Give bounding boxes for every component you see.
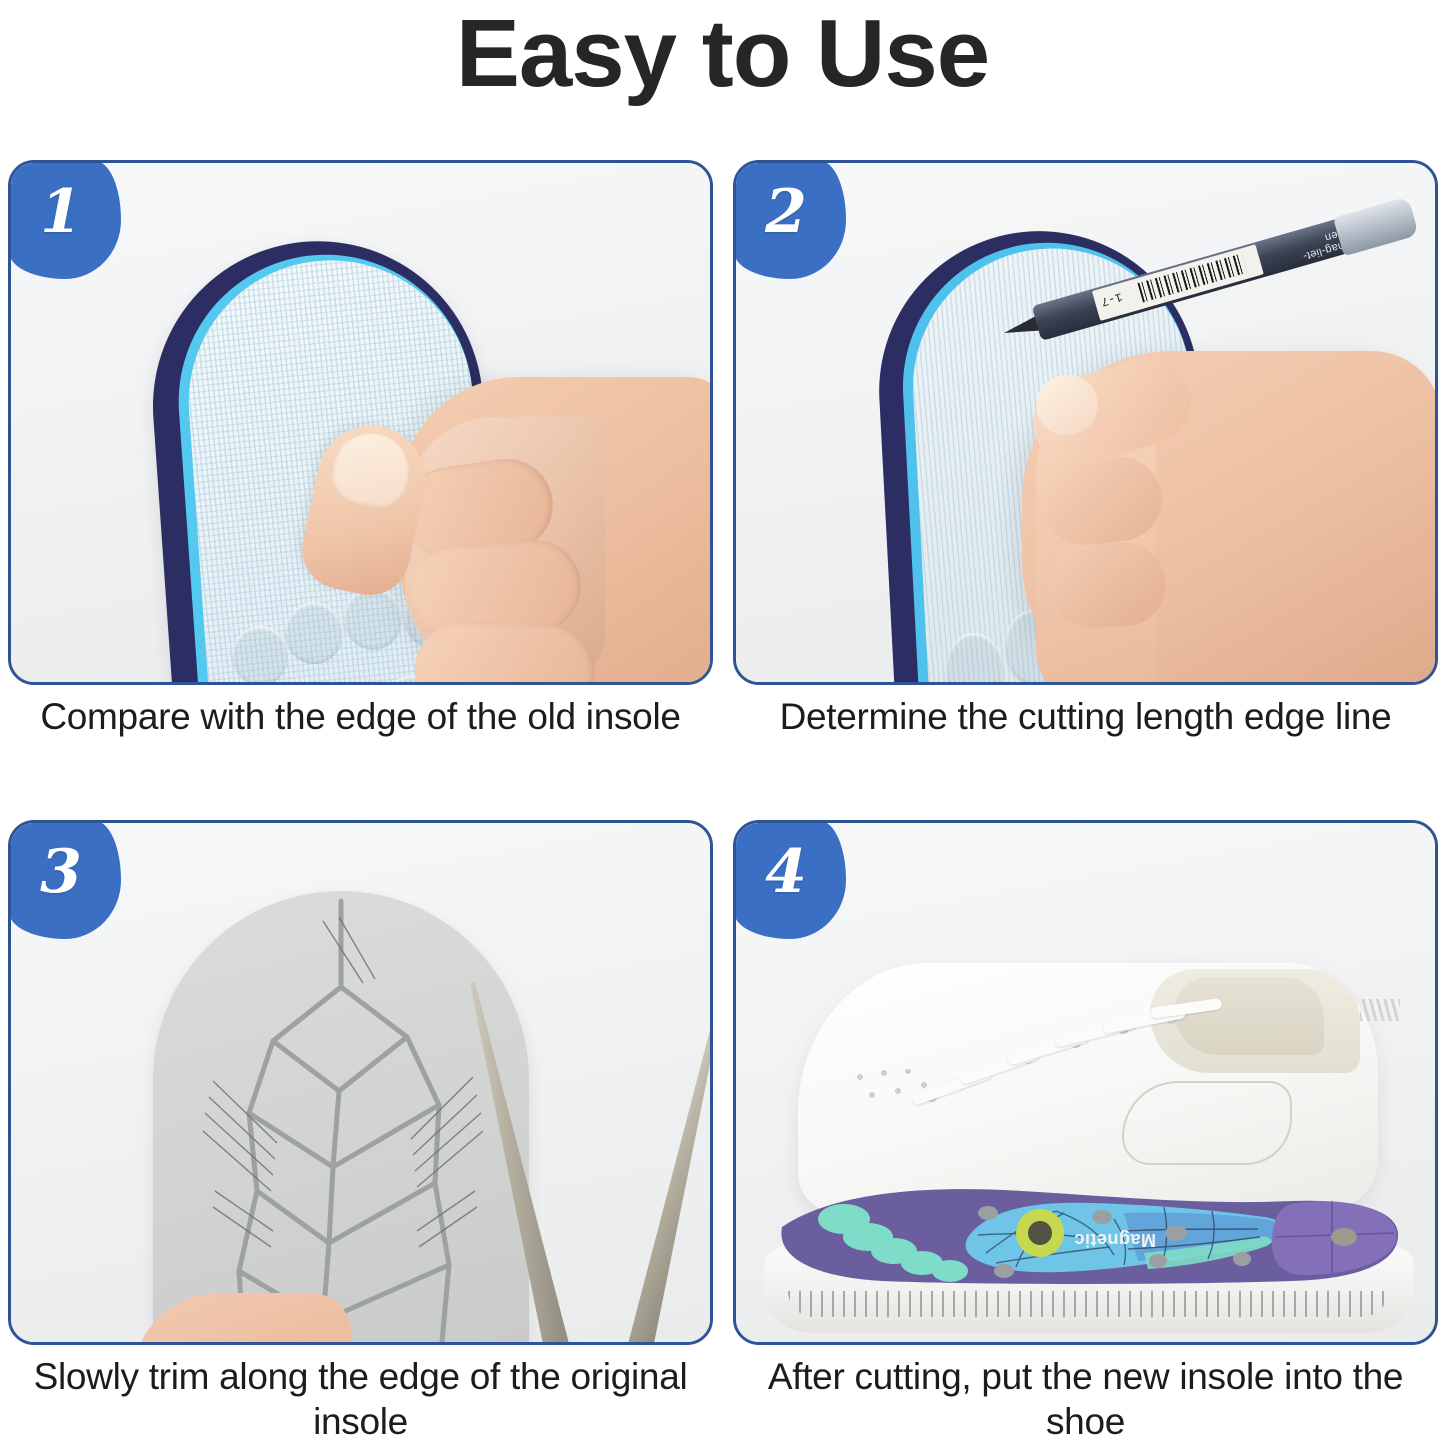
- infographic-page: Easy to Use: [0, 0, 1445, 1453]
- step-caption-3: Slowly trim along the edge of the origin…: [8, 1354, 713, 1444]
- shoe-panel-stitching: [1122, 1081, 1292, 1165]
- shoe-collar-inner: [1174, 977, 1324, 1055]
- step-badge-2: 2: [734, 161, 846, 279]
- toe-pad: [944, 631, 1006, 682]
- step-card-1: 1: [8, 160, 713, 685]
- finger: [1047, 541, 1168, 629]
- pen-cap: [1333, 196, 1419, 256]
- step-badge-1: 1: [9, 161, 121, 279]
- toe-pad: [230, 624, 290, 682]
- scissor-blade-left: [460, 980, 571, 1342]
- page-title: Easy to Use: [0, 2, 1445, 106]
- step-badge-4: 4: [734, 821, 846, 939]
- step-card-2: mag-liet-pen 1-7 2: [733, 160, 1438, 685]
- insole-magnetic-label: Magnetic: [1074, 1229, 1156, 1250]
- step-number: 3: [40, 842, 82, 902]
- step-card-4: Magnetic 4: [733, 820, 1438, 1345]
- finger: [413, 620, 596, 682]
- step-cell-1: 1 Compare with the edge of the old insol…: [8, 160, 713, 788]
- outsole-tread: [788, 1291, 1388, 1317]
- step-cell-3: 3 Slowly trim along the edge of the orig…: [8, 820, 713, 1448]
- toe-pad: [283, 600, 345, 666]
- scissors: [477, 973, 710, 1342]
- step-badge-3: 3: [9, 821, 121, 939]
- step-card-3: 3: [8, 820, 713, 1345]
- cell-pattern-lines: [153, 891, 529, 1342]
- step-caption-4: After cutting, put the new insole into t…: [733, 1354, 1438, 1444]
- step-caption-1: Compare with the edge of the old insole: [8, 694, 713, 739]
- toe-pad: [342, 586, 404, 652]
- thumbnail: [326, 426, 416, 514]
- steps-grid: 1 Compare with the edge of the old insol…: [8, 160, 1438, 1450]
- step-number: 1: [40, 182, 82, 242]
- scissor-blade-right: [625, 1003, 710, 1342]
- magnet-center-dark: [1028, 1221, 1052, 1245]
- step-cell-4: Magnetic 4 After cutting, put the new in…: [733, 820, 1438, 1448]
- step-cell-2: mag-liet-pen 1-7 2 Determine the cutting…: [733, 160, 1438, 788]
- magnet-stud-heel: [1331, 1228, 1357, 1246]
- sneaker: Magnetic: [754, 943, 1426, 1342]
- pen-barcode-code: 1-7: [1099, 289, 1124, 308]
- insole-bottom-cell-pattern: [153, 891, 529, 1342]
- step-number: 4: [765, 842, 807, 902]
- step-caption-2: Determine the cutting length edge line: [733, 694, 1438, 739]
- shoe-brand-mark: [1360, 999, 1400, 1021]
- step-number: 2: [765, 182, 807, 242]
